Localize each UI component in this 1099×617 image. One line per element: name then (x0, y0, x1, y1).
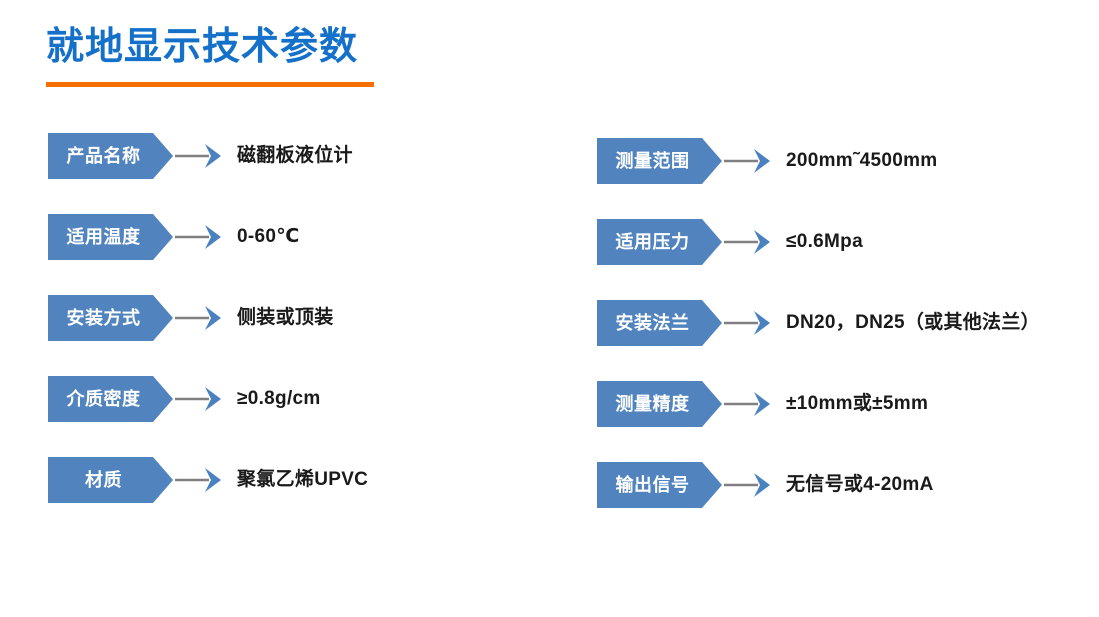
parameter-label-badge: 安装方式 (48, 295, 173, 341)
parameter-label: 产品名称 (67, 133, 155, 179)
parameter-value: ≥0.8g/cm (227, 376, 321, 421)
parameter-value: DN20，DN25（或其他法兰） (776, 300, 1040, 343)
parameter-label: 适用压力 (616, 219, 704, 265)
parameter-value: 磁翻板液位计 (227, 133, 353, 178)
right-arrow-icon (724, 300, 776, 346)
parameter-row: 安装法兰 DN20，DN25（或其他法兰） (597, 300, 1040, 346)
parameter-row: 适用温度 0-60℃ (48, 214, 300, 260)
parameter-label-badge: 适用压力 (597, 219, 722, 265)
right-arrow-icon (724, 462, 776, 508)
right-arrow-icon (724, 138, 776, 184)
right-arrow-icon (175, 214, 227, 260)
parameter-label-badge: 产品名称 (48, 133, 173, 179)
parameter-label-badge: 适用温度 (48, 214, 173, 260)
parameter-row: 测量范围 200mm˜4500mm (597, 138, 937, 184)
right-arrow-icon (175, 133, 227, 179)
parameter-label: 介质密度 (67, 376, 155, 422)
parameter-label-badge: 介质密度 (48, 376, 173, 422)
parameter-value: 无信号或4-20mA (776, 462, 934, 507)
parameter-label: 测量范围 (616, 138, 704, 184)
parameter-label: 测量精度 (616, 381, 704, 427)
parameter-label: 安装方式 (67, 295, 155, 341)
parameter-value: ≤0.6Mpa (776, 219, 863, 264)
parameter-label: 输出信号 (616, 462, 704, 508)
parameter-value: 0-60℃ (227, 214, 300, 259)
right-arrow-icon (175, 376, 227, 422)
right-arrow-icon (175, 457, 227, 503)
parameter-row: 输出信号 无信号或4-20mA (597, 462, 934, 508)
parameter-row: 适用压力 ≤0.6Mpa (597, 219, 863, 265)
parameter-value: 聚氯乙烯UPVC (227, 457, 368, 502)
parameter-label-badge: 安装法兰 (597, 300, 722, 346)
parameter-label: 安装法兰 (616, 300, 704, 346)
parameter-row: 介质密度 ≥0.8g/cm (48, 376, 321, 422)
title-underline-rule (46, 82, 374, 87)
parameter-label-badge: 材质 (48, 457, 173, 503)
parameter-label-badge: 测量精度 (597, 381, 722, 427)
slide-canvas: 就地显示技术参数 产品名称 磁翻板液位计 适用温度 (0, 0, 1099, 617)
parameter-label-badge: 测量范围 (597, 138, 722, 184)
parameter-value: 侧装或顶装 (227, 295, 334, 340)
parameter-value: 200mm˜4500mm (776, 138, 937, 183)
parameter-value: ±10mm或±5mm (776, 381, 928, 426)
right-arrow-icon (175, 295, 227, 341)
parameter-row: 产品名称 磁翻板液位计 (48, 133, 353, 179)
parameter-row: 材质 聚氯乙烯UPVC (48, 457, 368, 503)
page-title: 就地显示技术参数 (46, 24, 374, 70)
parameter-row: 安装方式 侧装或顶装 (48, 295, 334, 341)
page-title-block: 就地显示技术参数 (46, 24, 374, 87)
right-arrow-icon (724, 219, 776, 265)
parameter-label: 适用温度 (67, 214, 155, 260)
parameter-row: 测量精度 ±10mm或±5mm (597, 381, 928, 427)
parameter-label-badge: 输出信号 (597, 462, 722, 508)
parameter-label: 材质 (85, 457, 136, 503)
right-arrow-icon (724, 381, 776, 427)
